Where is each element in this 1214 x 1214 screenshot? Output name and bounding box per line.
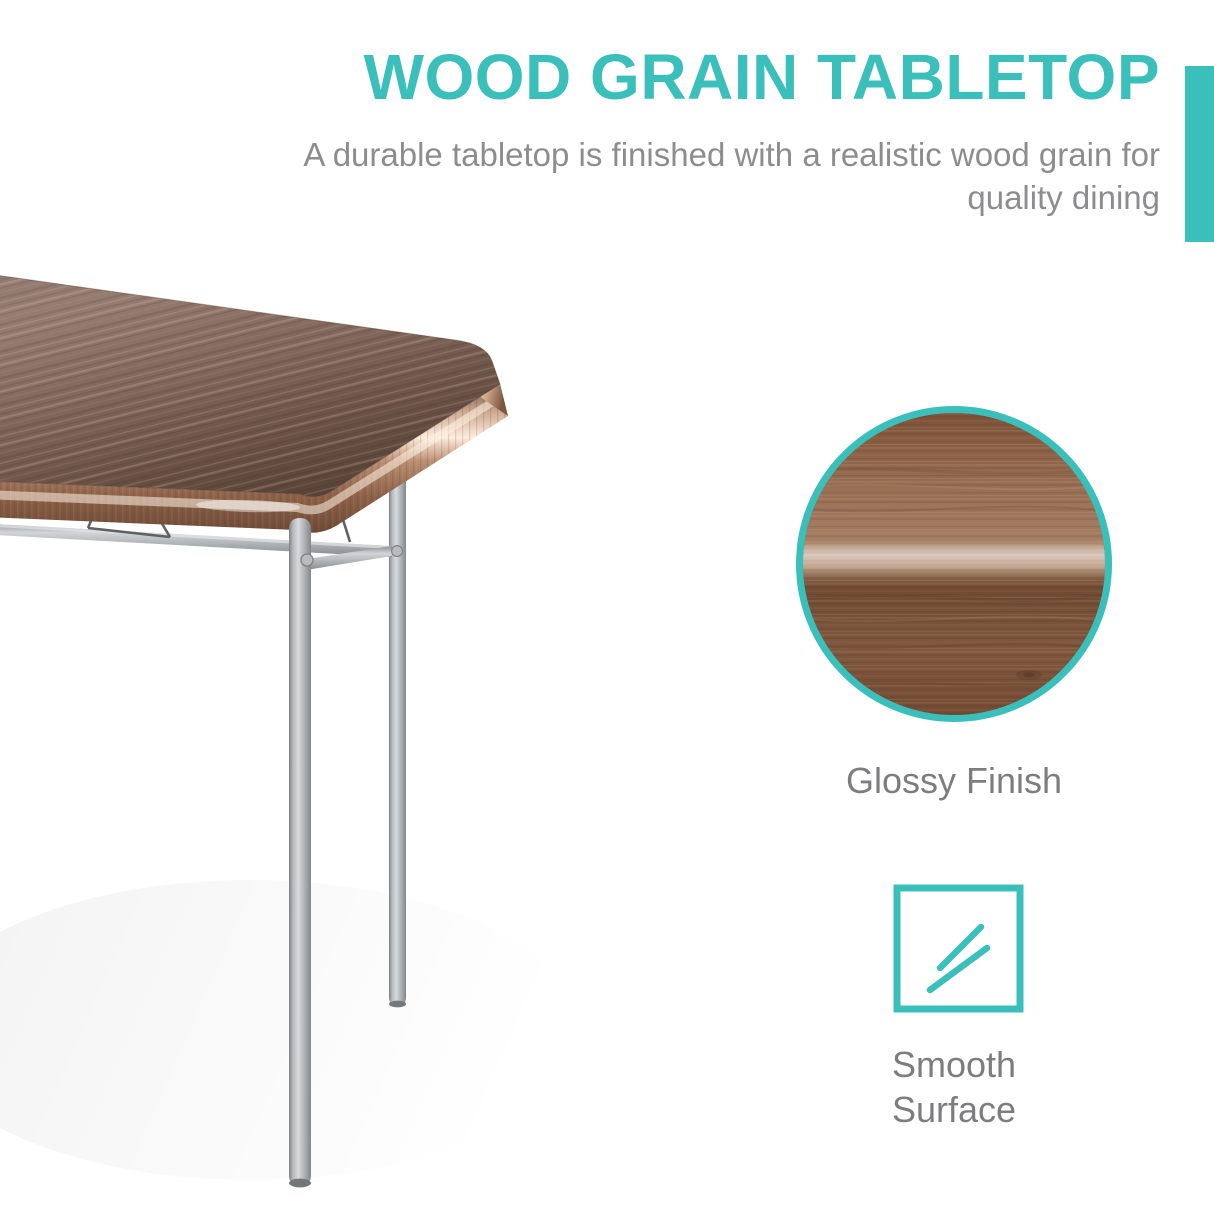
product-feature-image: WOOD GRAIN TABLETOP A durable tabletop i… [0,0,1214,1214]
smooth-surface-label-line2: Surface [796,1087,1112,1132]
smooth-surface-label-line1: Smooth [796,1042,1112,1087]
header-block: WOOD GRAIN TABLETOP A durable tabletop i… [300,44,1160,220]
smooth-surface-label: Smooth Surface [796,1042,1112,1132]
shine-square-glyph [893,884,1024,1013]
glossy-finish-label: Glossy Finish [796,760,1112,802]
glossy-finish-callout [796,406,1112,722]
page-title: WOOD GRAIN TABLETOP [300,44,1160,111]
wood-swatch-circle-icon [796,406,1112,722]
wood-swatch-texture [803,413,1105,715]
frame-bolt [392,546,403,557]
tabletop [0,250,560,533]
table-illustration [0,230,790,1214]
accent-bar [1185,66,1214,242]
shine-square-icon [893,884,1024,1013]
page-subtitle: A durable tabletop is finished with a re… [300,133,1160,221]
table-leg-front [289,518,313,1187]
product-photo [0,230,790,1214]
